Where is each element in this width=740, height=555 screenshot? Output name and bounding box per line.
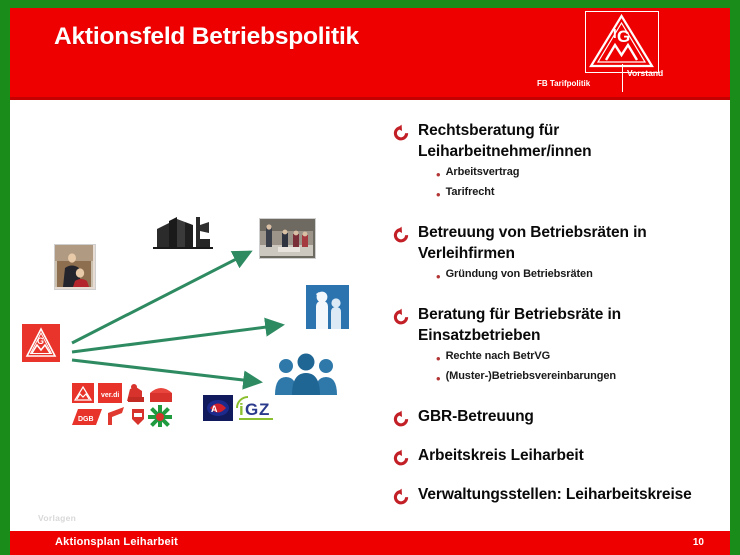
diagram-node-photo-meeting <box>259 218 316 259</box>
bullet-text-5: Arbeitskreis Leiharbeit <box>418 446 584 467</box>
igm-triangle-icon: I G <box>586 12 657 71</box>
svg-text:A: A <box>211 404 218 414</box>
org-label-fb-tarifpolitik: FB Tarifpolitik <box>537 79 590 88</box>
red-arrow-bullet-icon <box>393 410 410 427</box>
bullet-item-1: Rechtsberatung fürLeiharbeitnehmer/innen <box>393 121 723 163</box>
svg-text:DGB: DGB <box>78 416 94 423</box>
bullet-text-4: GBR-Betreuung <box>418 407 534 428</box>
svg-text:G: G <box>37 336 44 346</box>
footer-page-number: 10 <box>693 537 704 548</box>
diagram-node-igm-logo: G <box>22 324 60 362</box>
bullet-item-4: GBR-Betreuung <box>393 407 730 428</box>
org-label-vorstand: Vorstand <box>627 68 663 78</box>
sub-item-2-1: • Gründung von Betriebsräten <box>436 268 593 283</box>
svg-text:G: G <box>245 400 258 419</box>
svg-text:ver.di: ver.di <box>101 392 119 399</box>
bullet-item-6: Verwaltungsstellen: Leiharbeitskreise <box>393 485 733 506</box>
slide-footer: Aktionsplan Leiharbeit 10 <box>10 531 730 555</box>
sub-item-3-1: • Rechte nach BetrVG <box>436 350 550 365</box>
arrow-to-group <box>72 360 260 382</box>
bullet-text-1: Rechtsberatung fürLeiharbeitnehmer/innen <box>418 121 592 163</box>
svg-text:Z: Z <box>259 400 269 419</box>
diagram-node-factory-icon <box>153 213 213 250</box>
slide-body: G <box>10 100 730 523</box>
sub-bullet-dot-icon: • <box>436 372 441 385</box>
sub-item-3-2: • (Muster-)Betriebsvereinbarungen <box>436 370 616 385</box>
bullet-text-6: Verwaltungsstellen: Leiharbeitskreise <box>418 485 692 506</box>
bullet-item-3: Beratung für Betriebsräte inEinsatzbetri… <box>393 305 730 347</box>
red-arrow-bullet-icon <box>393 308 410 325</box>
diagram-node-betriebsrat-icon <box>306 285 349 329</box>
logo-divider <box>622 64 623 92</box>
red-arrow-bullet-icon <box>393 488 410 505</box>
bullet-text-2: Betreuung von Betriebsräten inVerleihfir… <box>418 223 647 265</box>
diagram-node-employer-assoc-logos: A i G Z <box>203 393 293 423</box>
diagram-node-photo-people <box>54 244 96 290</box>
sub-bullet-dot-icon: • <box>436 352 441 365</box>
sub-bullet-dot-icon: • <box>436 168 441 181</box>
slide: Aktionsfeld Betriebspolitik I G Vorstand… <box>0 0 740 555</box>
arrow-to-betriebsrat <box>72 325 282 352</box>
diagram-panel: G <box>10 100 385 523</box>
red-arrow-bullet-icon <box>393 449 410 466</box>
svg-text:i: i <box>239 400 244 419</box>
watermark-vorlagen: Vorlagen <box>38 513 76 523</box>
bullet-item-2: Betreuung von Betriebsräten inVerleihfir… <box>393 223 730 265</box>
sub-item-1-1: • Arbeitsvertrag <box>436 166 519 181</box>
arrow-to-meeting <box>72 252 250 343</box>
red-arrow-bullet-icon <box>393 124 410 141</box>
diagram-node-group-icon <box>272 353 340 395</box>
bullet-list: Rechtsberatung fürLeiharbeitnehmer/innen… <box>393 100 730 523</box>
sub-item-1-2: • Tarifrecht <box>436 186 494 201</box>
bullet-item-5: Arbeitskreis Leiharbeit <box>393 446 730 467</box>
bullet-text-3: Beratung für Betriebsräte inEinsatzbetri… <box>418 305 621 347</box>
page-title: Aktionsfeld Betriebspolitik <box>54 23 359 51</box>
sub-bullet-dot-icon: • <box>436 188 441 201</box>
red-arrow-bullet-icon <box>393 226 410 243</box>
diagram-node-union-logos: ver.di DGB <box>72 383 177 427</box>
sub-bullet-dot-icon: • <box>436 270 441 283</box>
footer-title: Aktionsplan Leiharbeit <box>55 536 178 548</box>
slide-header: Aktionsfeld Betriebspolitik I G Vorstand… <box>10 8 730 100</box>
